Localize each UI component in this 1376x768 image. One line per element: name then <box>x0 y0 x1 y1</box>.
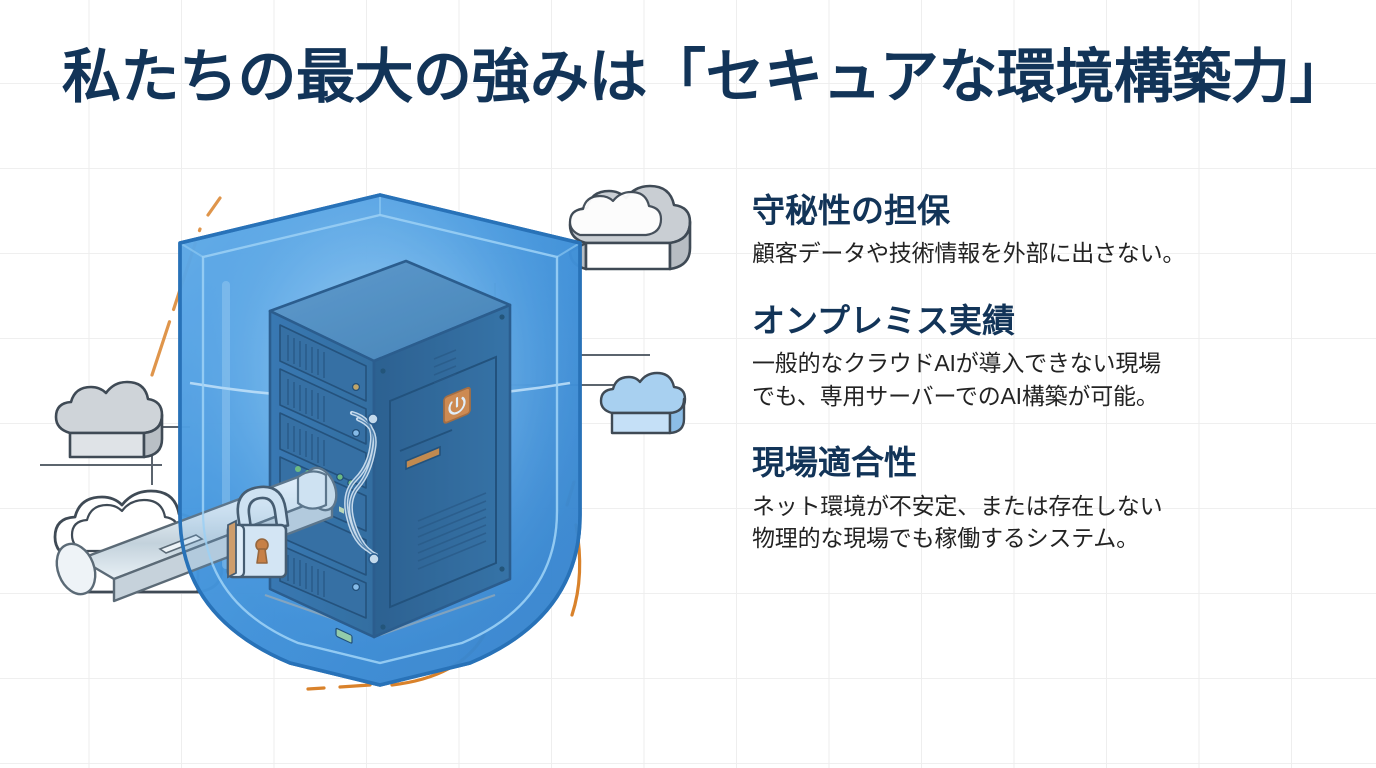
feature-item-site-adaptability: 現場適合性 ネット環境が不安定、または存在しない 物理的な現場でも稼働するシステ… <box>752 442 1312 555</box>
feature-body-line: ネット環境が不安定、または存在しない <box>752 490 1312 523</box>
feature-body: 顧客データや技術情報を外部に出さない。 <box>752 237 1312 270</box>
cloud-blue-right <box>601 373 685 433</box>
cloud-gray-left <box>56 382 162 457</box>
feature-body-line: 顧客データや技術情報を外部に出さない。 <box>752 237 1312 270</box>
feature-heading: 現場適合性 <box>752 442 1312 483</box>
feature-body-line: 一般的なクラウドAIが導入できない現場 <box>752 347 1312 380</box>
secure-onpremise-server-illustration <box>40 165 720 725</box>
cloud-gray-top-right <box>570 186 690 269</box>
feature-item-onpremise: オンプレミス実績 一般的なクラウドAIが導入できない現場 でも、専用サーバーでの… <box>752 300 1312 413</box>
slide-canvas: 私たちの最大の強みは「セキュアな環境構築力」 <box>0 0 1376 768</box>
feature-body: 一般的なクラウドAIが導入できない現場 でも、専用サーバーでのAI構築が可能。 <box>752 347 1312 412</box>
feature-heading: オンプレミス実績 <box>752 300 1312 341</box>
feature-body: ネット環境が不安定、または存在しない 物理的な現場でも稼働するシステム。 <box>752 490 1312 555</box>
feature-item-confidentiality: 守秘性の担保 顧客データや技術情報を外部に出さない。 <box>752 190 1312 270</box>
feature-body-line: 物理的な現場でも稼働するシステム。 <box>752 522 1312 555</box>
feature-heading: 守秘性の担保 <box>752 190 1312 231</box>
shield-glass-overlay <box>180 195 580 685</box>
feature-body-line: でも、専用サーバーでのAI構築が可能。 <box>752 380 1312 413</box>
features-list: 守秘性の担保 顧客データや技術情報を外部に出さない。 オンプレミス実績 一般的な… <box>752 190 1312 555</box>
page-title: 私たちの最大の強みは「セキュアな環境構築力」 <box>62 46 1332 110</box>
